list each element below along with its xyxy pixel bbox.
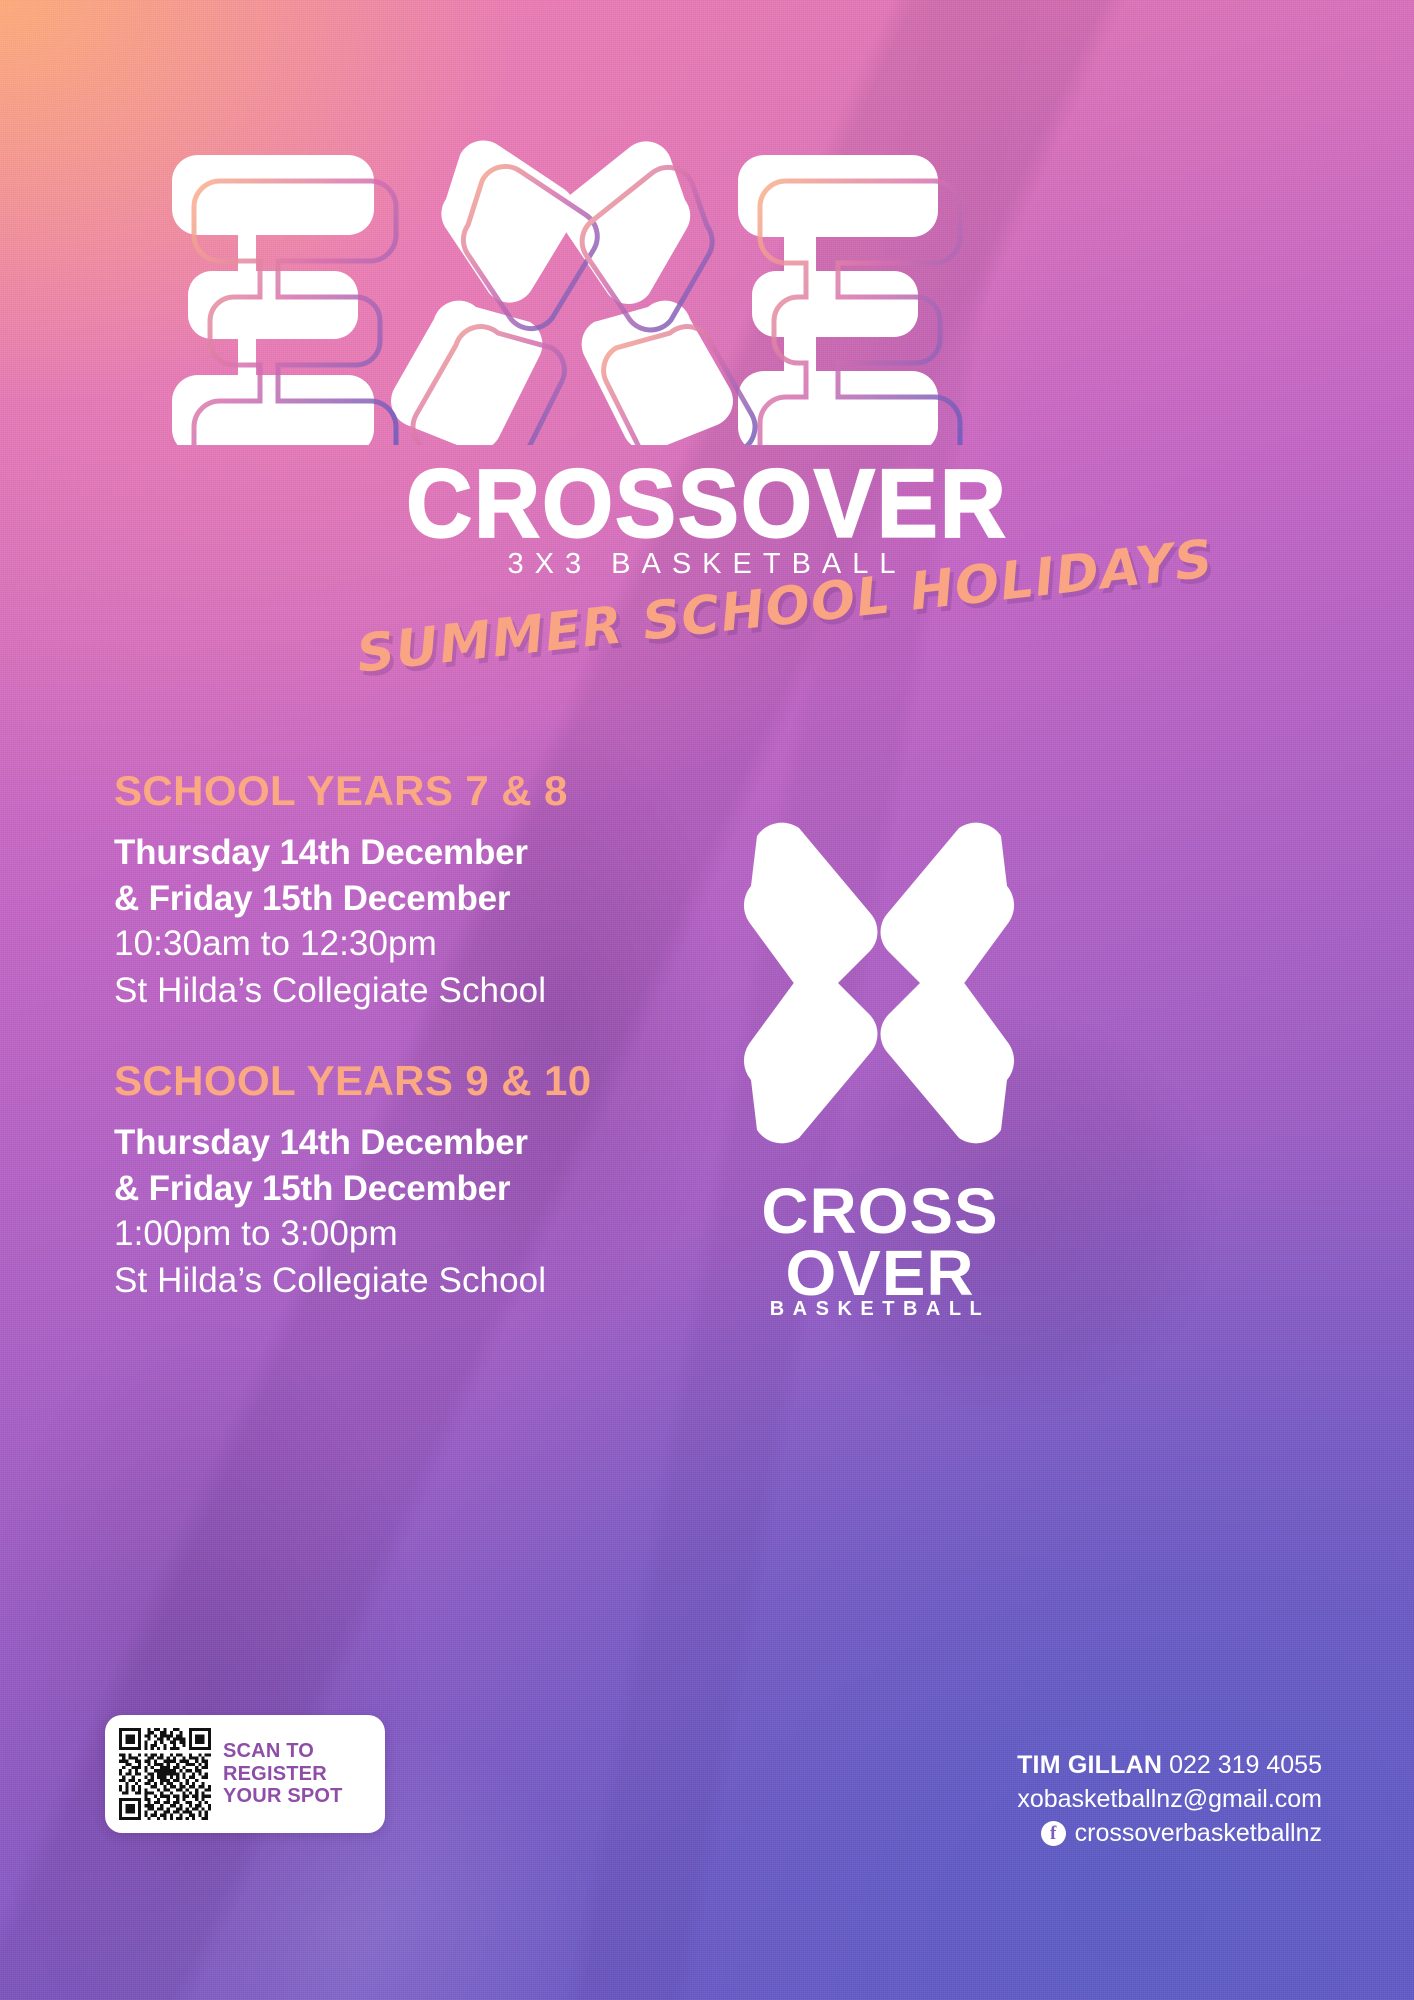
contact-facebook[interactable]: f crossoverbasketballnz	[1017, 1816, 1322, 1850]
side-logo-subtitle: BASKETBALL	[735, 1298, 1025, 1321]
contact-block: TIM GILLAN 022 319 4055 xobasketballnz@g…	[1017, 1748, 1322, 1850]
contact-name-phone: TIM GILLAN 022 319 4055	[1017, 1748, 1322, 1782]
qr-badge-line-3: YOUR SPOT	[223, 1785, 343, 1808]
session-block-years-7-8: SCHOOL YEARS 7 & 8 Thursday 14th Decembe…	[114, 770, 734, 1015]
scan-to-register-badge[interactable]: SCAN TO REGISTER YOUR SPOT	[105, 1715, 385, 1833]
qr-badge-text: SCAN TO REGISTER YOUR SPOT	[223, 1740, 343, 1808]
session-block-years-9-10: SCHOOL YEARS 9 & 10 Thursday 14th Decemb…	[114, 1060, 734, 1305]
qr-code-icon[interactable]	[119, 1728, 211, 1820]
qr-badge-line-1: SCAN TO	[223, 1740, 343, 1763]
contact-email[interactable]: xobasketballnz@gmail.com	[1017, 1782, 1322, 1816]
session-time: 1:00pm to 3:00pm	[114, 1211, 734, 1258]
side-logo-word-bottom: OVER	[732, 1242, 1028, 1304]
contact-phone: 022 319 4055	[1169, 1751, 1322, 1779]
session-time: 10:30am to 12:30pm	[114, 921, 734, 968]
x-mark-icon	[735, 780, 1025, 1180]
session-heading: SCHOOL YEARS 9 & 10	[114, 1060, 734, 1102]
qr-badge-line-2: REGISTER	[223, 1763, 343, 1786]
session-date-line-1: Thursday 14th December	[114, 1120, 734, 1166]
side-logo-word-top: CROSS	[732, 1180, 1028, 1242]
session-venue: St Hilda’s Collegiate School	[114, 1258, 734, 1305]
facebook-icon: f	[1041, 1821, 1066, 1846]
ex3-logo-icon	[140, 125, 980, 445]
session-heading: SCHOOL YEARS 7 & 8	[114, 770, 734, 812]
contact-name: TIM GILLAN	[1017, 1751, 1162, 1779]
side-logo-wordmark: CROSS OVER	[732, 1180, 1028, 1304]
session-date-line-2: & Friday 15th December	[114, 876, 734, 922]
session-venue: St Hilda’s Collegiate School	[114, 968, 734, 1015]
contact-facebook-handle: crossoverbasketballnz	[1075, 1816, 1322, 1850]
poster-canvas: CROSSOVER 3X3 BASKETBALL SUMMER SCHOOL H…	[0, 0, 1414, 2000]
session-date-line-1: Thursday 14th December	[114, 830, 734, 876]
session-date-line-2: & Friday 15th December	[114, 1166, 734, 1212]
